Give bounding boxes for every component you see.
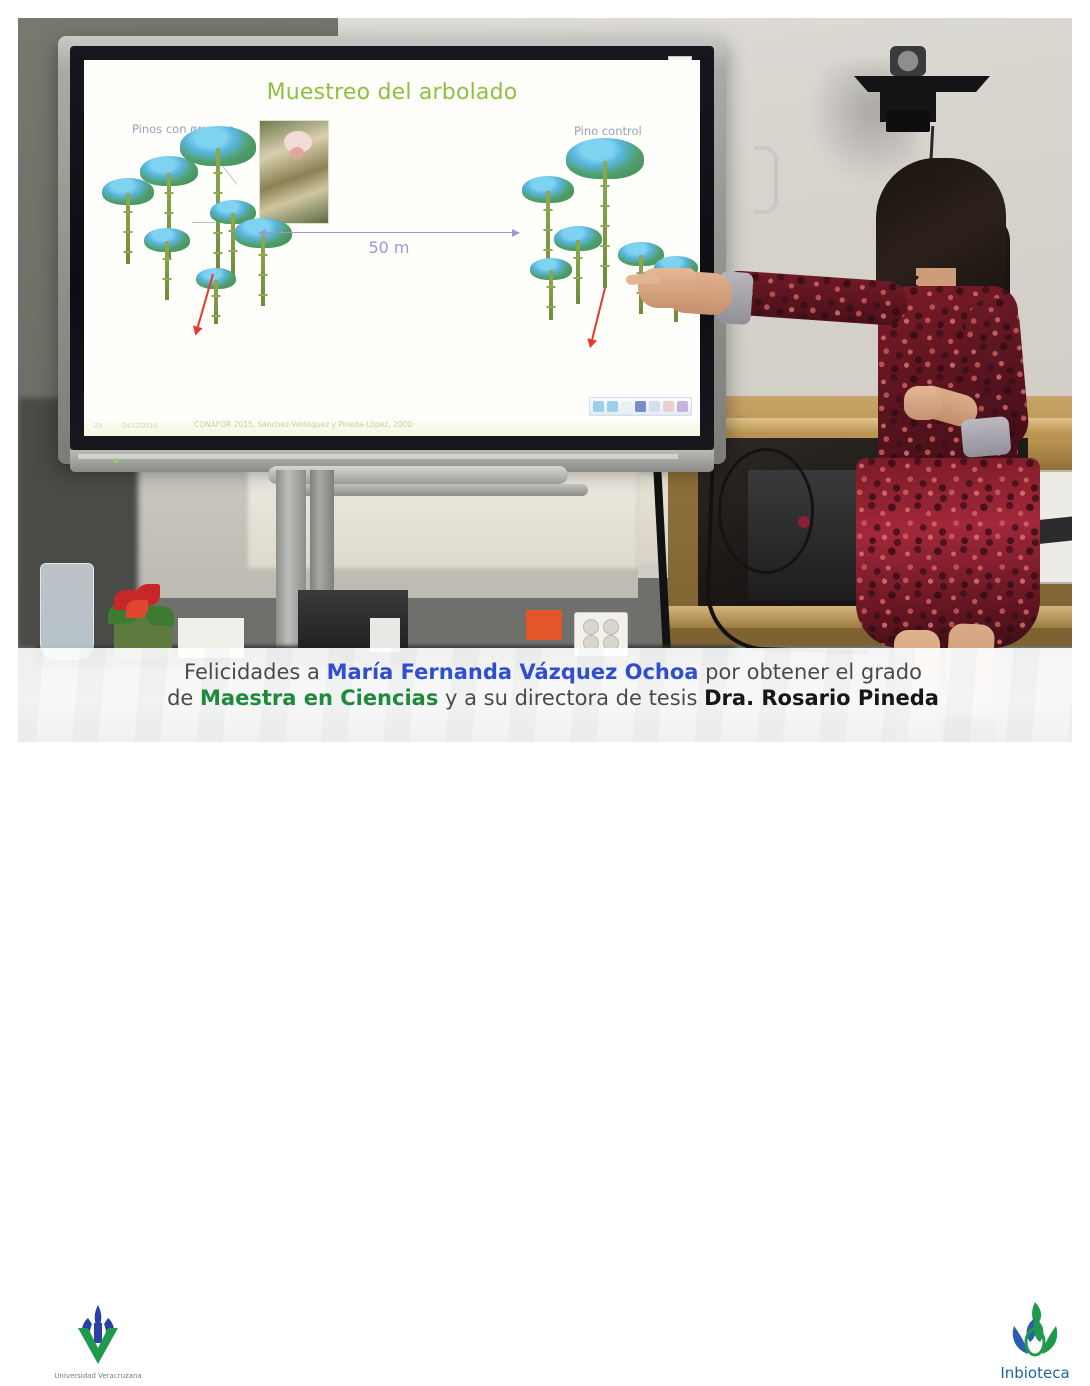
right-hand: [904, 386, 942, 420]
screenshot-root: Muestreo del arbolado Pinos con grumos P…: [0, 0, 1090, 760]
banner-line2-part1: de: [167, 686, 200, 710]
degree-name: Maestra en Ciencias: [200, 686, 438, 710]
banner-line1-part1: Felicidades a: [184, 660, 327, 684]
inbioteca-caption: Inbioteca: [986, 1364, 1084, 1382]
orange-box: [526, 610, 562, 640]
skirt-pattern: [856, 458, 1040, 648]
banner-message: Felicidades a María Fernanda Vázquez Och…: [138, 652, 968, 711]
flower-petal: [126, 600, 148, 618]
advisor-name: Dra. Rosario Pineda: [704, 686, 939, 710]
photograph: Muestreo del arbolado Pinos con grumos P…: [18, 18, 1072, 742]
green-v-icon: [74, 1326, 122, 1366]
inbioteca-logo: Inbioteca: [986, 1298, 1084, 1386]
leaf: [146, 606, 174, 626]
universidad-veracruzana-caption: Universidad Veracruzana: [48, 1372, 148, 1380]
banner-line2-part3: y a su directora de tesis: [438, 686, 704, 710]
banner-line1-part3: por obtener el grado: [698, 660, 921, 684]
right-cuff: [960, 416, 1011, 458]
banner-line-1: Felicidades a María Fernanda Vázquez Och…: [138, 660, 968, 686]
graduate-name: María Fernanda Vázquez Ochoa: [327, 660, 699, 684]
congratulations-banner: Universidad Veracruzana Felicidades a Ma…: [18, 648, 1072, 742]
glass-pitcher: [40, 563, 94, 660]
skirt: [856, 458, 1040, 648]
inbioteca-mark-icon: [986, 1298, 1084, 1364]
banner-line-2: de Maestra en Ciencias y a su directora …: [138, 686, 968, 712]
tower-label: [370, 618, 400, 652]
universidad-veracruzana-logo: Universidad Veracruzana: [48, 1300, 148, 1386]
